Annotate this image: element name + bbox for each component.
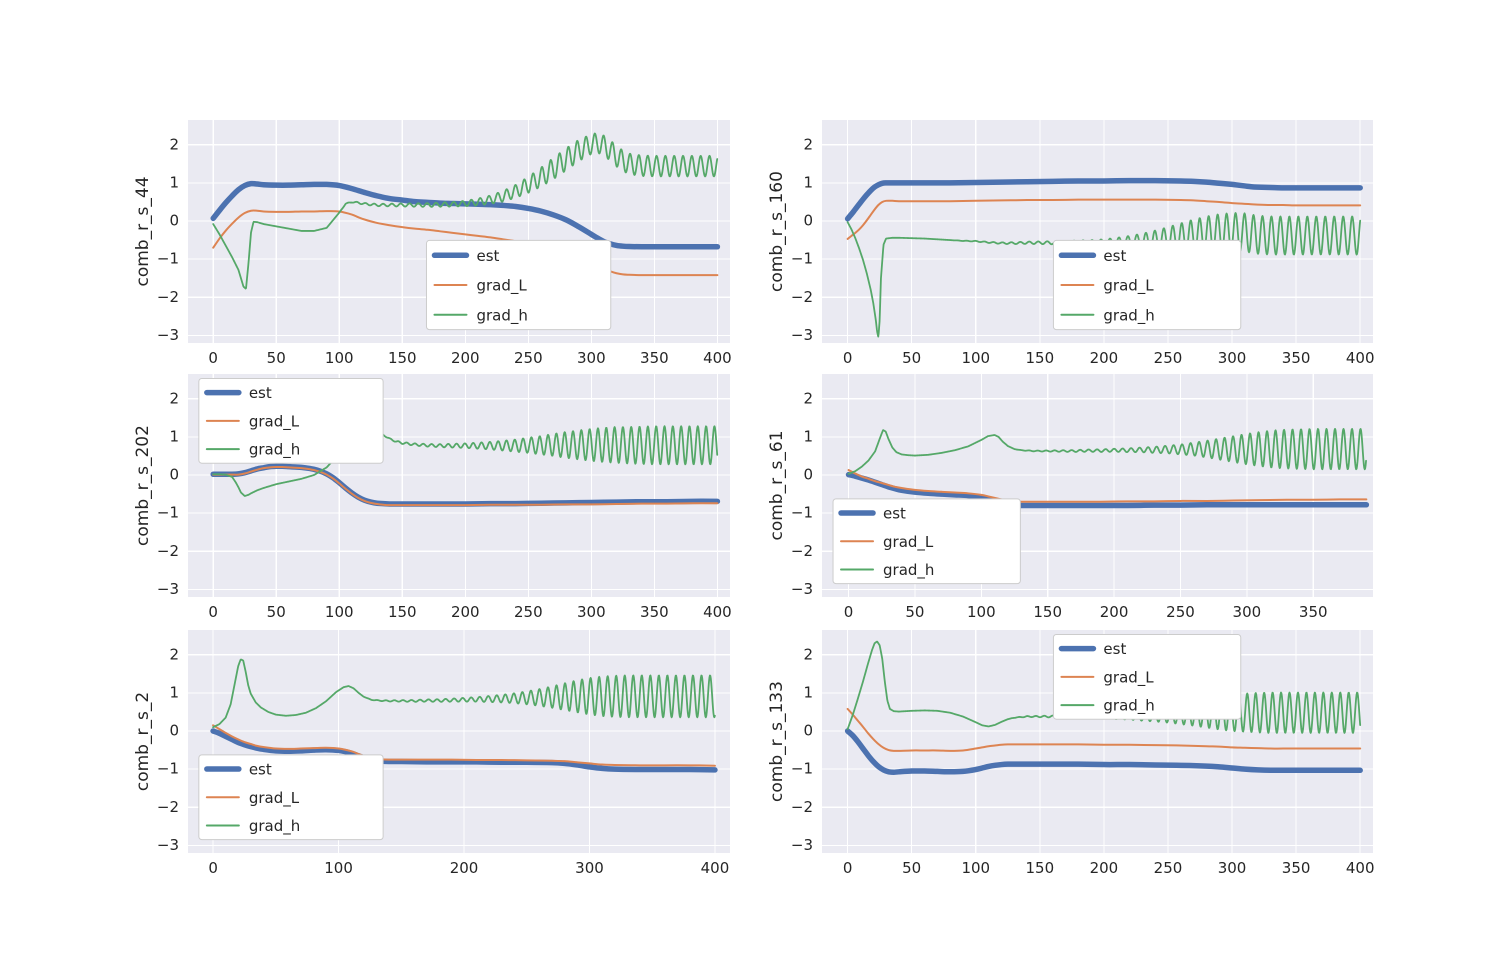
y-tick-label: 1 bbox=[169, 683, 179, 701]
subplot-comb_r_s_44: 050100150200250300350400210−1−2−3comb_r_… bbox=[130, 110, 740, 360]
x-tick-label: 200 bbox=[451, 603, 480, 621]
y-tick-label: −1 bbox=[791, 760, 813, 778]
y-tick-label: 1 bbox=[169, 427, 179, 445]
legend[interactable]: estgrad_Lgrad_h bbox=[199, 755, 383, 840]
legend-label-grad_h: grad_h bbox=[883, 561, 934, 580]
x-tick-label: 200 bbox=[1100, 603, 1129, 621]
legend[interactable]: estgrad_Lgrad_h bbox=[199, 378, 383, 463]
y-tick-label: −2 bbox=[791, 542, 813, 560]
y-axis-label: comb_r_s_202 bbox=[133, 425, 153, 546]
x-tick-label: 300 bbox=[1218, 859, 1247, 877]
x-tick-label: 0 bbox=[844, 603, 854, 621]
y-tick-label: 0 bbox=[803, 212, 813, 230]
y-tick-label: 2 bbox=[169, 645, 179, 663]
x-tick-label: 0 bbox=[208, 859, 218, 877]
legend-label-grad_L: grad_L bbox=[1103, 277, 1154, 296]
y-tick-label: −2 bbox=[791, 798, 813, 816]
x-tick-label: 350 bbox=[1282, 859, 1311, 877]
y-tick-label: −2 bbox=[791, 288, 813, 306]
x-tick-label: 100 bbox=[325, 603, 354, 621]
x-tick-label: 150 bbox=[388, 603, 417, 621]
y-tick-label: −3 bbox=[791, 580, 813, 598]
legend-label-grad_L: grad_L bbox=[883, 533, 934, 552]
y-axis-label: comb_r_s_133 bbox=[767, 681, 787, 802]
legend[interactable]: estgrad_Lgrad_h bbox=[833, 499, 1020, 584]
x-tick-label: 300 bbox=[1233, 603, 1262, 621]
y-tick-label: −3 bbox=[157, 836, 179, 854]
y-axis-label: comb_r_s_44 bbox=[133, 176, 153, 286]
y-tick-label: −3 bbox=[157, 580, 179, 598]
legend-label-est: est bbox=[476, 247, 499, 265]
x-tick-label: 200 bbox=[450, 859, 479, 877]
legend-label-grad_h: grad_h bbox=[249, 441, 300, 460]
x-tick-label: 350 bbox=[640, 603, 669, 621]
subplot-comb_r_s_160: 050100150200250300350400210−1−2−3comb_r_… bbox=[760, 110, 1385, 360]
y-tick-label: 0 bbox=[169, 212, 179, 230]
legend-label-grad_L: grad_L bbox=[476, 277, 527, 296]
legend-label-grad_h: grad_h bbox=[476, 306, 527, 325]
x-tick-label: 300 bbox=[575, 859, 604, 877]
y-tick-label: 2 bbox=[803, 645, 813, 663]
legend[interactable]: estgrad_Lgrad_h bbox=[1053, 240, 1240, 329]
y-tick-label: 2 bbox=[803, 389, 813, 407]
x-tick-label: 250 bbox=[1154, 859, 1183, 877]
x-tick-label: 150 bbox=[1026, 859, 1055, 877]
legend[interactable]: estgrad_Lgrad_h bbox=[1053, 634, 1240, 719]
legend-label-est: est bbox=[1103, 640, 1126, 658]
y-tick-label: −2 bbox=[157, 542, 179, 560]
x-tick-label: 0 bbox=[208, 603, 218, 621]
x-tick-label: 100 bbox=[961, 859, 990, 877]
legend-label-grad_L: grad_L bbox=[1103, 668, 1154, 687]
legend-label-est: est bbox=[1103, 247, 1126, 265]
x-tick-label: 100 bbox=[967, 603, 996, 621]
y-tick-label: 0 bbox=[803, 466, 813, 484]
y-tick-label: −2 bbox=[157, 288, 179, 306]
y-tick-label: 0 bbox=[169, 722, 179, 740]
y-tick-label: 1 bbox=[803, 427, 813, 445]
x-tick-label: 400 bbox=[1346, 859, 1375, 877]
y-tick-label: 1 bbox=[803, 173, 813, 191]
x-tick-label: 200 bbox=[1090, 859, 1119, 877]
y-tick-label: 1 bbox=[169, 173, 179, 191]
y-tick-label: −3 bbox=[791, 326, 813, 344]
y-tick-label: 1 bbox=[803, 683, 813, 701]
x-tick-label: 250 bbox=[1166, 603, 1195, 621]
y-tick-label: 2 bbox=[169, 135, 179, 153]
x-tick-label: 300 bbox=[577, 603, 606, 621]
x-tick-label: 400 bbox=[703, 603, 732, 621]
legend[interactable]: estgrad_Lgrad_h bbox=[426, 240, 610, 329]
y-axis-label: comb_r_s_160 bbox=[767, 171, 787, 292]
y-tick-label: −2 bbox=[157, 798, 179, 816]
y-tick-label: 2 bbox=[169, 389, 179, 407]
x-tick-label: 50 bbox=[905, 603, 924, 621]
y-tick-label: 2 bbox=[803, 135, 813, 153]
x-tick-label: 100 bbox=[324, 859, 353, 877]
legend-label-est: est bbox=[883, 505, 906, 523]
subplot-comb_r_s_133: 050100150200250300350400210−1−2−3comb_r_… bbox=[760, 620, 1385, 870]
y-tick-label: 0 bbox=[169, 466, 179, 484]
x-tick-label: 350 bbox=[1299, 603, 1328, 621]
y-tick-label: −3 bbox=[157, 326, 179, 344]
subplot-comb_r_s_2: 0100200300400210−1−2−3comb_r_s_2estgrad_… bbox=[130, 620, 740, 870]
y-axis-label: comb_r_s_61 bbox=[767, 430, 787, 540]
y-tick-label: −1 bbox=[791, 250, 813, 268]
x-tick-label: 0 bbox=[843, 859, 853, 877]
subplot-comb_r_s_202: 050100150200250300350400210−1−2−3comb_r_… bbox=[130, 364, 740, 614]
figure-canvas: 050100150200250300350400210−1−2−3comb_r_… bbox=[0, 0, 1500, 961]
y-tick-label: 0 bbox=[803, 722, 813, 740]
subplot-comb_r_s_61: 050100150200250300350210−1−2−3comb_r_s_6… bbox=[760, 364, 1385, 614]
x-tick-label: 150 bbox=[1033, 603, 1062, 621]
y-tick-label: −3 bbox=[791, 836, 813, 854]
legend-label-grad_h: grad_h bbox=[1103, 697, 1154, 716]
x-tick-label: 250 bbox=[514, 603, 543, 621]
legend-label-est: est bbox=[249, 384, 272, 402]
y-tick-label: −1 bbox=[157, 504, 179, 522]
x-tick-label: 50 bbox=[267, 603, 286, 621]
y-tick-label: −1 bbox=[157, 250, 179, 268]
x-tick-label: 50 bbox=[902, 859, 921, 877]
x-tick-label: 400 bbox=[701, 859, 730, 877]
y-axis-label: comb_r_s_2 bbox=[133, 692, 153, 791]
legend-label-est: est bbox=[249, 761, 272, 779]
legend-label-grad_L: grad_L bbox=[249, 789, 300, 808]
y-tick-label: −1 bbox=[791, 504, 813, 522]
legend-label-grad_L: grad_L bbox=[249, 412, 300, 431]
legend-label-grad_h: grad_h bbox=[1103, 306, 1154, 325]
y-tick-label: −1 bbox=[157, 760, 179, 778]
legend-label-grad_h: grad_h bbox=[249, 817, 300, 836]
